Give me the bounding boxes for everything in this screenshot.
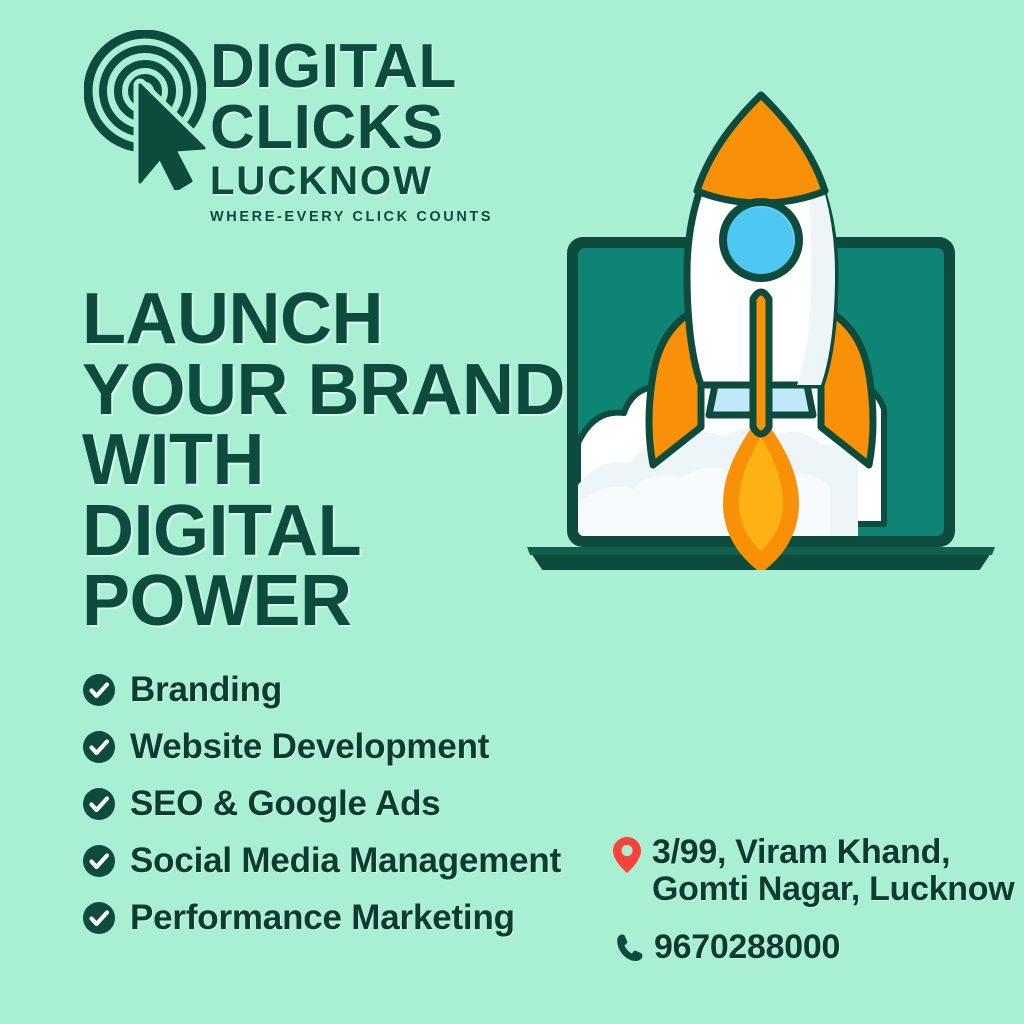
list-item: Branding	[82, 662, 682, 718]
service-label: SEO & Google Ads	[130, 784, 441, 824]
phone-row[interactable]: 9670288000	[612, 927, 1024, 968]
check-circle-icon	[82, 901, 116, 935]
poster-canvas: DIGITAL CLICKS LUCKNOW WHERE-EVERY CLICK…	[0, 0, 1024, 1024]
brand-logo: DIGITAL CLICKS LUCKNOW WHERE-EVERY CLICK…	[80, 22, 480, 222]
services-list: Branding Website Development SEO & Googl…	[82, 662, 682, 947]
logo-line-clicks: CLICKS	[210, 99, 480, 158]
check-circle-icon	[82, 730, 116, 764]
logo-tagline: WHERE-EVERY CLICK COUNTS	[210, 209, 480, 225]
service-label: Branding	[130, 670, 282, 710]
logo-line-lucknow: LUCKNOW	[210, 162, 480, 200]
phone-icon	[616, 933, 644, 963]
headline-line-5: POWER	[82, 566, 602, 637]
list-item: SEO & Google Ads	[82, 776, 682, 832]
logo-wordmark: DIGITAL CLICKS LUCKNOW WHERE-EVERY CLICK…	[210, 22, 480, 225]
list-item: Performance Marketing	[82, 890, 682, 946]
phone-number: 9670288000	[654, 927, 840, 968]
service-label: Social Media Management	[130, 841, 561, 881]
headline-line-1: LAUNCH	[82, 284, 602, 355]
service-label: Performance Marketing	[130, 898, 515, 938]
address-line-1: 3/99, Viram Khand,	[652, 832, 1014, 873]
map-pin-icon	[612, 836, 642, 874]
address-line-2: Gomti Nagar, Lucknow	[652, 869, 1014, 910]
logo-line-digital: DIGITAL	[210, 38, 480, 97]
contact-block: 3/99, Viram Khand, Gomti Nagar, Lucknow …	[612, 836, 1024, 968]
list-item: Social Media Management	[82, 833, 682, 889]
headline: LAUNCH YOUR BRAND WITH DIGITAL POWER	[82, 284, 602, 637]
list-item: Website Development	[82, 719, 682, 775]
check-circle-icon	[82, 844, 116, 878]
headline-line-2: YOUR BRAND	[82, 355, 602, 426]
service-label: Website Development	[130, 727, 489, 767]
check-circle-icon	[82, 673, 116, 707]
target-cursor-icon	[84, 30, 206, 190]
check-circle-icon	[82, 787, 116, 821]
headline-line-4: DIGITAL	[82, 496, 602, 567]
address-row[interactable]: 3/99, Viram Khand, Gomti Nagar, Lucknow	[612, 836, 1024, 911]
headline-line-3: WITH	[82, 425, 602, 496]
